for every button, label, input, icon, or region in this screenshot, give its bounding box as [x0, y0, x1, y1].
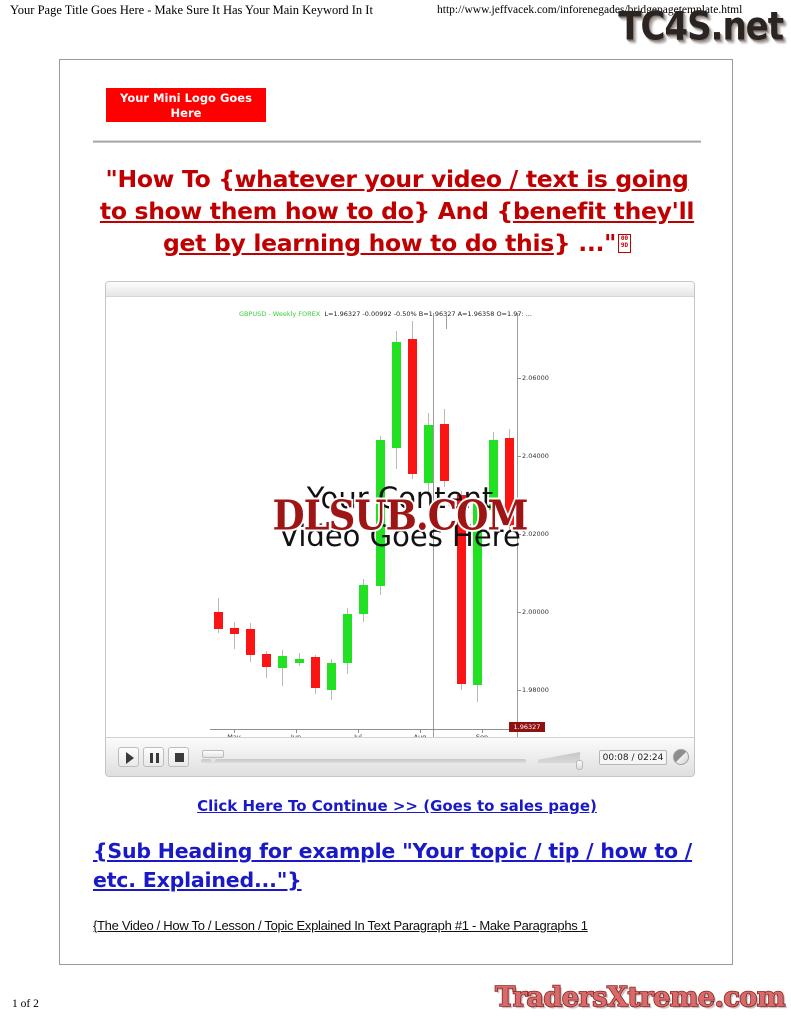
headline-part1: "How To { — [106, 165, 235, 193]
seek-handle[interactable] — [202, 750, 224, 763]
player-controls: 00:08 / 02:24 — [106, 737, 694, 776]
candle-wick — [234, 622, 235, 649]
volume-knob[interactable] — [576, 760, 583, 770]
page-headline: "How To {whatever your video / text is g… — [93, 163, 701, 259]
chart-quote-line: GBPUSD - Weekly FOREX L=1.96327 -0.00992… — [239, 310, 532, 318]
candlestick — [424, 413, 433, 495]
y-tick-label: 2.00000 — [522, 608, 549, 616]
candle-body — [457, 495, 466, 684]
missing-glyph-top: 00 — [621, 235, 628, 242]
pause-icon-bar2 — [156, 753, 159, 763]
tradersxtreme-watermark: TradersXtreme.com — [495, 982, 785, 1013]
video-player[interactable]: GBPUSD - Weekly FOREX L=1.96327 -0.00992… — [105, 281, 695, 777]
candle-body — [295, 659, 304, 663]
candlestick — [392, 331, 401, 470]
candlestick — [278, 650, 287, 686]
candle-body — [214, 612, 223, 630]
horizontal-divider — [93, 140, 701, 143]
current-price-marker: 1.96327 — [509, 722, 545, 732]
candle-body — [376, 440, 385, 586]
chart-symbol-label: GBPUSD - Weekly FOREX — [239, 310, 320, 318]
candlestick — [359, 579, 368, 622]
candle-body — [473, 503, 482, 686]
chart-x-axis — [210, 729, 520, 730]
candle-body — [392, 342, 401, 447]
candlestick — [408, 321, 417, 479]
candle-body — [440, 424, 449, 481]
candlestick — [457, 491, 466, 690]
time-display: 00:08 / 02:24 — [599, 750, 667, 765]
page-content: Your Mini Logo Goes Here "How To {whatev… — [93, 88, 701, 935]
player-titlebar — [106, 282, 694, 297]
seek-bar[interactable] — [201, 759, 526, 763]
chart-vertical-line-quote — [446, 313, 447, 329]
candle-body — [262, 654, 271, 668]
y-tick-label: 2.04000 — [522, 452, 549, 460]
print-header: Your Page Title Goes Here - Make Sure It… — [0, 0, 791, 26]
play-button[interactable] — [118, 747, 139, 767]
candle-body — [343, 614, 352, 664]
page-count: 1 of 2 — [12, 998, 39, 1010]
candlestick — [343, 608, 352, 674]
caption-line-2: Video Goes Here — [106, 517, 694, 555]
candlestick — [376, 436, 385, 595]
candle-body — [311, 657, 320, 688]
candlestick — [262, 651, 271, 678]
mini-logo: Your Mini Logo Goes Here — [106, 88, 266, 122]
print-header-title: Your Page Title Goes Here - Make Sure It… — [10, 3, 373, 18]
sub-heading: {Sub Heading for example "Your topic / t… — [93, 837, 701, 895]
pause-icon — [150, 753, 153, 763]
caption-line-1: Your Content — [106, 479, 694, 517]
candle-body — [489, 440, 498, 510]
chart-vertical-line-left — [433, 313, 434, 737]
candle-body — [230, 628, 239, 634]
y-tick-label: 2.02000 — [522, 530, 549, 538]
candle-body — [246, 629, 255, 654]
play-icon — [126, 752, 134, 764]
candlestick — [327, 659, 336, 699]
stop-button[interactable] — [168, 747, 189, 767]
stop-icon — [175, 753, 184, 762]
candlestick — [214, 598, 223, 633]
fullscreen-icon[interactable] — [673, 749, 689, 765]
y-tick-label: 2.06000 — [522, 374, 549, 382]
missing-glyph-bottom: 9D — [621, 242, 628, 249]
candlestick — [295, 653, 304, 666]
volume-slider[interactable] — [538, 752, 580, 763]
candle-body — [424, 425, 433, 483]
mini-logo-line1: Your Mini Logo Goes — [120, 91, 252, 105]
continue-link[interactable]: Click Here To Continue >> (Goes to sales… — [93, 797, 701, 815]
pause-button[interactable] — [143, 747, 164, 767]
candle-body — [327, 663, 336, 690]
y-tick-label: 1.98000 — [522, 686, 549, 694]
candle-body — [359, 585, 368, 614]
candle-body — [278, 656, 287, 669]
seek-handle-top — [202, 750, 224, 758]
body-paragraph: {The Video / How To / Lesson / Topic Exp… — [93, 917, 701, 935]
candlestick — [246, 623, 255, 662]
page-sheet: Your Mini Logo Goes Here "How To {whatev… — [59, 59, 733, 965]
video-stage[interactable]: GBPUSD - Weekly FOREX L=1.96327 -0.00992… — [106, 297, 694, 737]
candlestick — [473, 497, 482, 702]
headline-part3: } ..." — [554, 229, 616, 257]
candlestick — [230, 622, 239, 649]
mini-logo-line2: Here — [106, 106, 266, 121]
candlestick — [505, 429, 514, 530]
seek-handle-tip — [209, 758, 217, 763]
missing-glyph-box: 009D — [618, 234, 631, 253]
candle-body — [408, 339, 417, 475]
video-placeholder-caption: Your Content Video Goes Here — [106, 479, 694, 555]
chart-quote-values: L=1.96327 -0.00992 -0.50% B=1.96327 A=1.… — [324, 310, 532, 318]
candlestick — [440, 409, 449, 487]
headline-part2: } And { — [413, 197, 512, 225]
print-header-url: http://www.jeffvacek.com/inforenegades/b… — [437, 4, 742, 16]
candlestick — [489, 432, 498, 532]
candlestick — [311, 655, 320, 694]
candle-body — [505, 438, 514, 526]
